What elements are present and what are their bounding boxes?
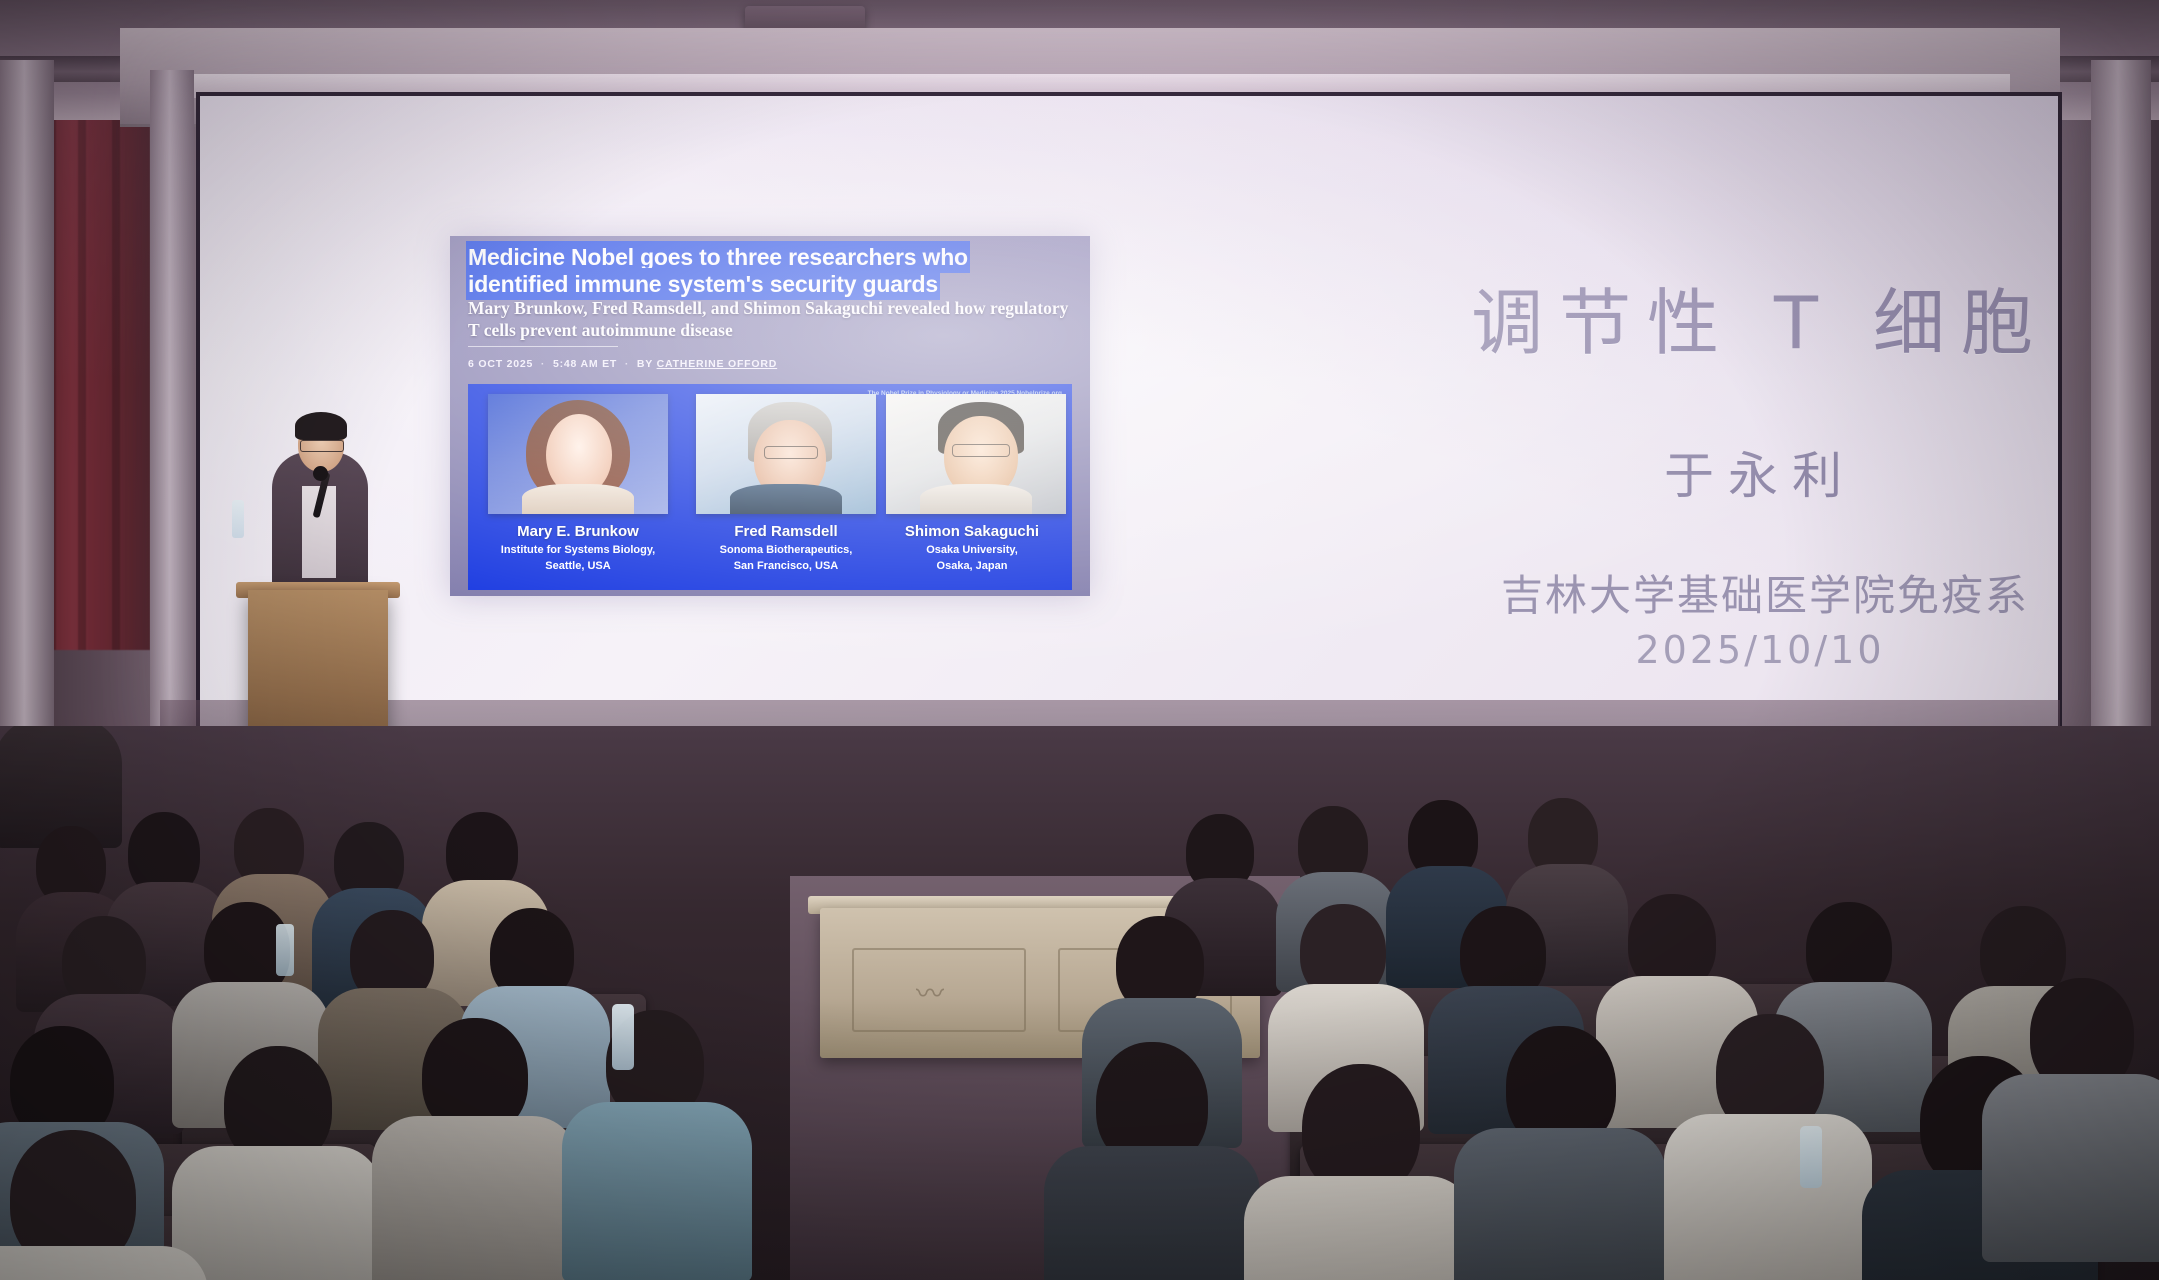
wall-pillar bbox=[150, 70, 194, 730]
laureate-caption: Fred Ramsdell Sonoma Biotherapeutics, Sa… bbox=[691, 524, 881, 573]
wall-pillar bbox=[0, 60, 54, 760]
projection-screen: Medicine Nobel goes to three researchers… bbox=[200, 96, 2058, 726]
speaker-glasses bbox=[300, 440, 344, 452]
wall-pillar bbox=[2091, 60, 2151, 760]
water-bottle-icon bbox=[276, 924, 294, 976]
laureate-caption: Mary E. Brunkow Institute for Systems Bi… bbox=[483, 524, 673, 573]
news-divider bbox=[468, 346, 618, 347]
microphone-head-icon bbox=[313, 466, 328, 481]
slide-title: 调节性 T 细胞 bbox=[1350, 264, 2058, 369]
laureate-caption: Shimon Sakaguchi Osaka University, Osaka… bbox=[877, 524, 1067, 573]
lecture-hall-photo: Medicine Nobel goes to three researchers… bbox=[0, 0, 2159, 1280]
slide-news-article: Medicine Nobel goes to three researchers… bbox=[450, 236, 1090, 596]
slide-affiliation: 吉林大学基础医学院免疫系 bbox=[1350, 562, 2058, 623]
laureate-photo bbox=[488, 394, 668, 514]
news-headline: Medicine Nobel goes to three researchers… bbox=[468, 244, 1068, 298]
water-bottle-icon bbox=[232, 500, 244, 538]
laureate-photo-strip: The Nobel Prize in Physiology or Medicin… bbox=[468, 384, 1072, 590]
laureate-photo bbox=[696, 394, 876, 514]
news-dek: Mary Brunkow, Fred Ramsdell, and Shimon … bbox=[468, 298, 1078, 342]
slide-presenter: 于永利 bbox=[1350, 436, 2058, 508]
news-byline-prefix: BY bbox=[637, 358, 653, 370]
news-date: 6 OCT 2025 bbox=[468, 358, 533, 370]
speaker-hair bbox=[295, 412, 347, 440]
water-bottle-icon bbox=[612, 1004, 634, 1070]
laureate-photo bbox=[886, 394, 1066, 514]
news-time: 5:48 AM ET bbox=[553, 358, 617, 370]
news-meta: 6 OCT 2025 · 5:48 AM ET · BY CATHERINE O… bbox=[468, 358, 777, 370]
audience-area: 〰 〰 bbox=[0, 726, 2159, 1280]
news-author: CATHERINE OFFORD bbox=[657, 358, 778, 370]
water-bottle-icon bbox=[1800, 1126, 1822, 1188]
slide-date: 2025/10/10 bbox=[1350, 628, 2058, 672]
